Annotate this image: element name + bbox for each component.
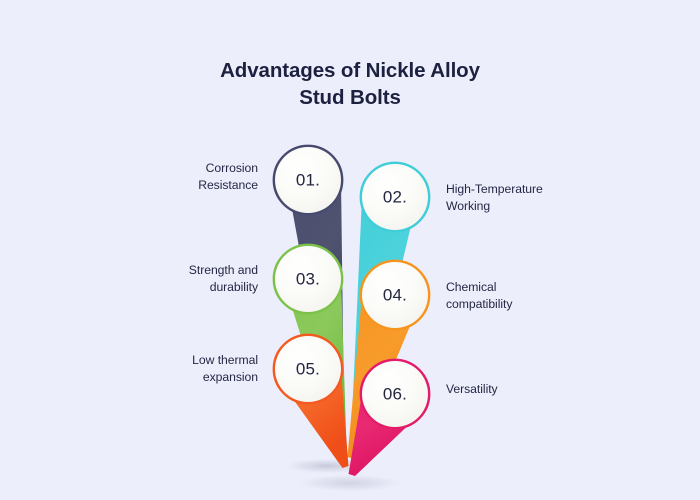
pin-text-04-line-1: Chemical — [446, 279, 512, 296]
pin-text-02-line-1: High-Temperature — [446, 181, 543, 198]
pin-shapes-group — [0, 0, 700, 500]
pin-text-03-line-1: Strength and — [189, 262, 258, 279]
pin-text-01-line-2: Resistance — [198, 177, 258, 194]
pin-text-03-line-2: durability — [189, 279, 258, 296]
infographic-canvas: Advantages of Nickle Alloy Stud Bolts — [0, 0, 700, 500]
pin-text-01: Corrosion Resistance — [198, 160, 258, 193]
pin-number-circle-04[interactable]: 04. — [362, 262, 428, 328]
pin-number-label-02: 02. — [383, 188, 407, 205]
pin-text-05-line-1: Low thermal — [192, 352, 258, 369]
pin-text-02-line-2: Working — [446, 198, 543, 215]
pin-text-02: High-Temperature Working — [446, 181, 543, 214]
pin-text-03: Strength and durability — [189, 262, 258, 295]
pin-number-label-01: 01. — [296, 171, 320, 188]
pin-text-04-line-2: compatibility — [446, 296, 512, 313]
pin-number-label-06: 06. — [383, 385, 407, 402]
pin-number-circle-01[interactable]: 01. — [275, 147, 341, 213]
pin-number-label-04: 04. — [383, 286, 407, 303]
pin-number-label-05: 05. — [296, 360, 320, 377]
pin-number-label-03: 03. — [296, 270, 320, 287]
pin-number-circle-03[interactable]: 03. — [275, 246, 341, 312]
pin-text-06: Versatility — [446, 381, 498, 398]
pin-number-circle-06[interactable]: 06. — [362, 361, 428, 427]
pin-text-04: Chemical compatibility — [446, 279, 512, 312]
pin-number-circle-02[interactable]: 02. — [362, 164, 428, 230]
pin-text-05-line-2: expansion — [192, 369, 258, 386]
pin-text-06-line-1: Versatility — [446, 381, 498, 398]
pin-number-circle-05[interactable]: 05. — [275, 336, 341, 402]
ground-shadow-center — [298, 475, 402, 492]
pin-text-05: Low thermal expansion — [192, 352, 258, 385]
pin-text-01-line-1: Corrosion — [198, 160, 258, 177]
